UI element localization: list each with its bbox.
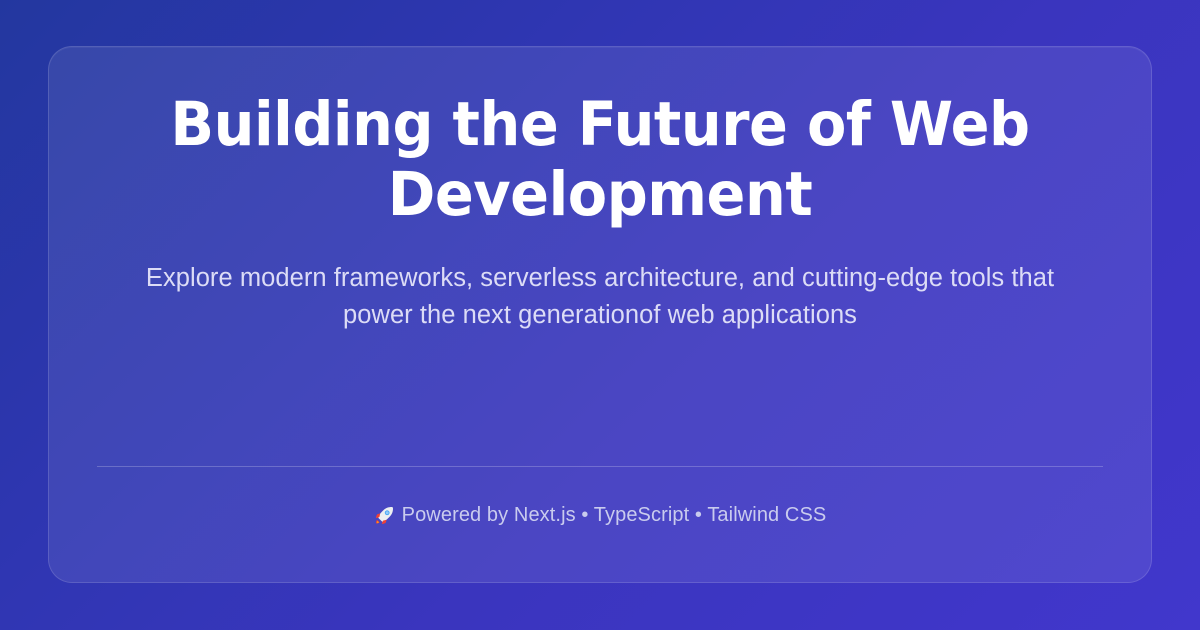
footer-credits: Powered by Next.js • TypeScript • Tailwi… bbox=[49, 501, 1151, 529]
page-title: Building the Future of Web Development bbox=[82, 90, 1118, 230]
footer-credits-label: Powered by Next.js • TypeScript • Tailwi… bbox=[402, 501, 827, 529]
rocket-icon bbox=[374, 505, 395, 526]
footer-divider bbox=[97, 466, 1103, 467]
og-hero-card: Building the Future of Web Development E… bbox=[48, 46, 1152, 583]
page-subtitle: Explore modern frameworks, serverless ar… bbox=[49, 260, 1151, 334]
